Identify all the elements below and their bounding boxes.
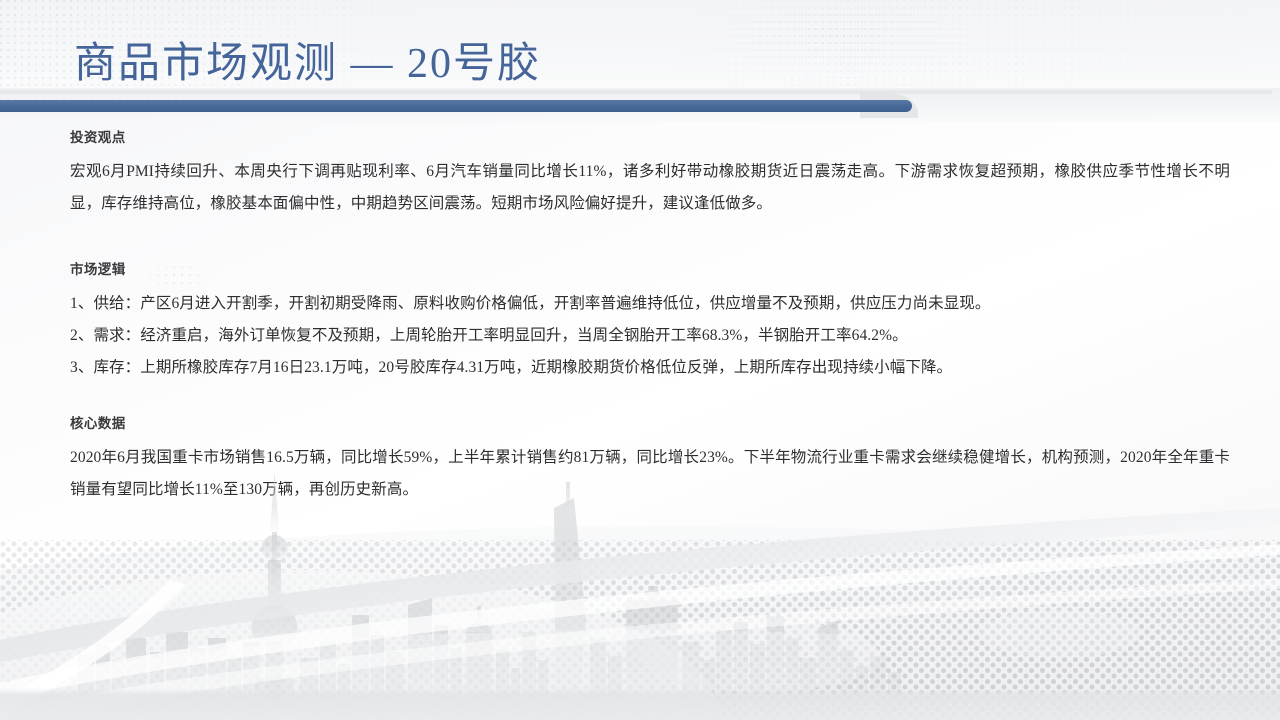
section-heading-investment-view: 投资观点 bbox=[70, 126, 1230, 146]
dot-grid-cluster-icon bbox=[640, 0, 970, 100]
section-core-data: 核心数据 2020年6月我国重卡市场销售16.5万辆，同比增长59%，上半年累计… bbox=[70, 412, 1230, 506]
section-market-logic: 市场逻辑 1、供给：产区6月进入开割季，开割初期受降雨、原料收购价格偏低，开割率… bbox=[70, 258, 1230, 384]
section-heading-core-data: 核心数据 bbox=[70, 412, 1230, 432]
market-logic-item-demand: 2、需求：经济重启，海外订单恢复不及预期，上周轮胎开工率明显回升，当周全钢胎开工… bbox=[70, 320, 1230, 352]
section-body-investment-view: 宏观6月PMI持续回升、本周央行下调再贴现利率、6月汽车销量同比增长11%，诸多… bbox=[70, 156, 1230, 220]
section-investment-view: 投资观点 宏观6月PMI持续回升、本周央行下调再贴现利率、6月汽车销量同比增长1… bbox=[70, 126, 1230, 220]
slide-canvas: 商品市场观测 — 20号胶 投资观点 宏观6月PMI持续回升、本周央行下调再贴现… bbox=[0, 0, 1280, 720]
page-title: 商品市场观测 — 20号胶 bbox=[74, 38, 541, 90]
title-accent-bar bbox=[0, 100, 912, 112]
bottom-gray-band bbox=[0, 688, 1280, 720]
content-area: 投资观点 宏观6月PMI持续回升、本周央行下调再贴现利率、6月汽车销量同比增长1… bbox=[0, 112, 1280, 720]
market-logic-item-inventory: 3、库存：上期所橡胶库存7月16日23.1万吨，20号胶库存4.31万吨，近期橡… bbox=[70, 352, 1230, 384]
section-body-core-data: 2020年6月我国重卡市场销售16.5万辆，同比增长59%，上半年累计销售约81… bbox=[70, 442, 1230, 506]
section-heading-market-logic: 市场逻辑 bbox=[70, 258, 1230, 278]
market-logic-item-supply: 1、供给：产区6月进入开割季，开割初期受降雨、原料收购价格偏低，开割率普遍维持低… bbox=[70, 288, 1230, 320]
